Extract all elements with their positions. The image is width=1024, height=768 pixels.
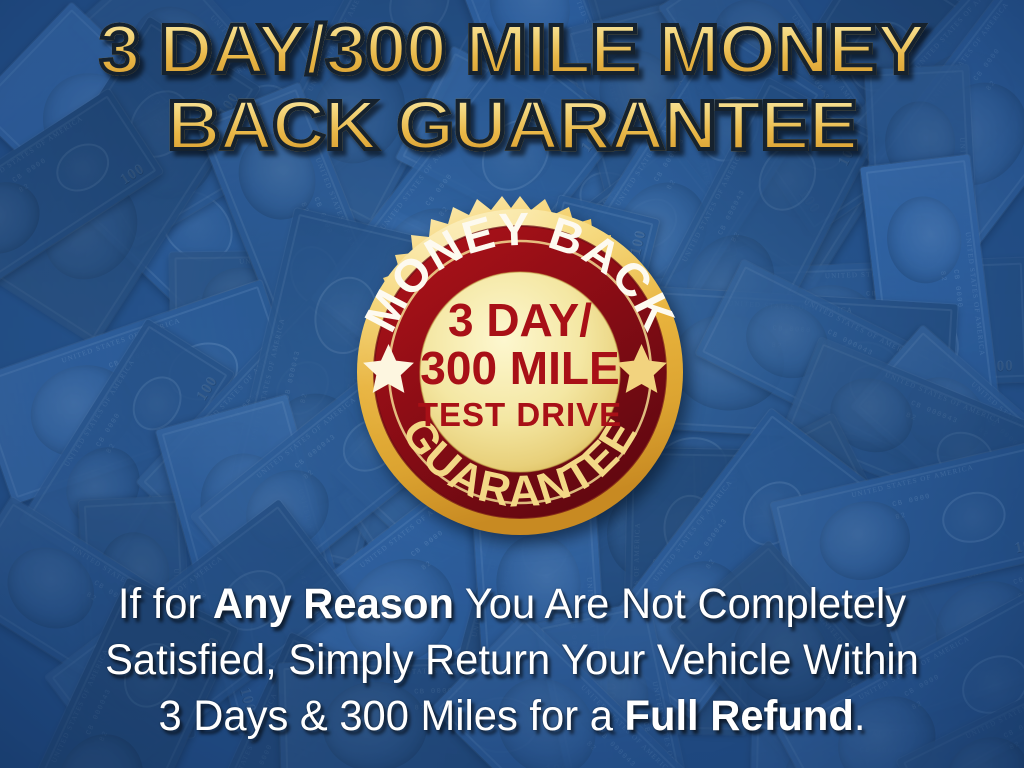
blurb-line-1-part-a: If for bbox=[118, 580, 213, 628]
blurb-emphasis-full-refund: Full Refund bbox=[624, 692, 853, 740]
seal-center-line-1: 3 DAY/ bbox=[448, 294, 592, 346]
blurb-line-2: Satisfied, Simply Return Your Vehicle Wi… bbox=[39, 632, 986, 688]
guarantee-description: If for Any Reason You Are Not Completely… bbox=[0, 576, 1024, 744]
blurb-line-3: 3 Days & 300 Miles for a Full Refund. bbox=[39, 688, 986, 744]
headline-line-1: 3 DAY/300 MILE MONEY bbox=[0, 14, 1024, 84]
blurb-line-3-part-a: 3 Days & 300 Miles for a bbox=[159, 692, 625, 740]
blurb-line-3-part-c: . bbox=[854, 692, 866, 740]
page-title: 3 DAY/300 MILE MONEY BACK GUARANTEE bbox=[0, 14, 1024, 160]
blurb-line-1: If for Any Reason You Are Not Completely bbox=[39, 576, 986, 632]
seal-center-line-3: TEST DRIVE bbox=[418, 396, 622, 433]
money-back-guarantee-seal: MONEY BACK GUARANTEE 3 DAY/ 300 MIL bbox=[340, 188, 700, 556]
blurb-emphasis-any-reason: Any Reason bbox=[213, 580, 454, 628]
headline-line-2: BACK GUARANTEE bbox=[0, 90, 1024, 160]
blurb-line-1-part-c: You Are Not Completely bbox=[454, 580, 906, 628]
seal-center-line-2: 300 MILE bbox=[420, 342, 619, 394]
money-back-guarantee-banner: UNITED STATES OF AMERICACB 000082100UNIT… bbox=[0, 0, 1024, 768]
